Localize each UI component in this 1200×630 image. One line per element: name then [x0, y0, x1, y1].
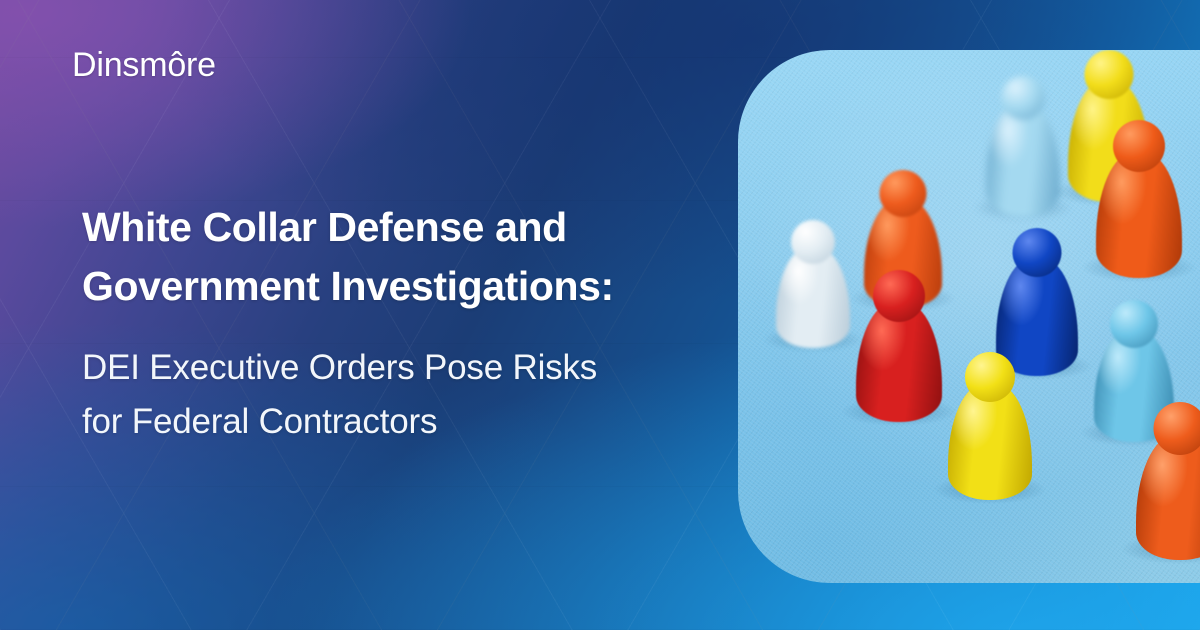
pawn-head — [873, 270, 925, 322]
pawn-yellow-front — [948, 352, 1032, 500]
pawn-red-front-left — [856, 270, 942, 422]
headline-line-2: Government Investigations: — [82, 257, 702, 316]
hero-photo — [738, 50, 1200, 583]
pawn-orange-center — [1096, 120, 1182, 278]
pawn-head — [1113, 120, 1165, 172]
pawn-white-left — [776, 220, 850, 348]
pawn-head — [880, 170, 927, 217]
pawn-lightblue-back — [986, 76, 1060, 216]
pawn-body — [1136, 435, 1200, 560]
pawn-orange-front — [1136, 402, 1200, 560]
pawn-head — [1110, 300, 1158, 348]
pawn-head — [1001, 76, 1045, 120]
subhead-line-1: DEI Executive Orders Pose Risks — [82, 341, 702, 395]
dinsmore-logo[interactable]: Dinsmôre — [72, 48, 216, 82]
headline-line-1: White Collar Defense and — [82, 198, 702, 257]
pawn-head — [965, 352, 1015, 402]
copy-block: White Collar Defense and Government Inve… — [82, 198, 702, 449]
pawn-head — [791, 220, 835, 264]
pawn-head — [1085, 50, 1134, 99]
pawn-head — [1154, 402, 1200, 455]
subhead-line-2: for Federal Contractors — [82, 395, 702, 449]
page-title: White Collar Defense and Government Inve… — [82, 198, 702, 317]
social-share-card: Dinsmôre White Collar Defense and Govern… — [0, 0, 1200, 630]
pawn-head — [1013, 228, 1062, 277]
page-subtitle: DEI Executive Orders Pose Risks for Fede… — [82, 341, 702, 449]
